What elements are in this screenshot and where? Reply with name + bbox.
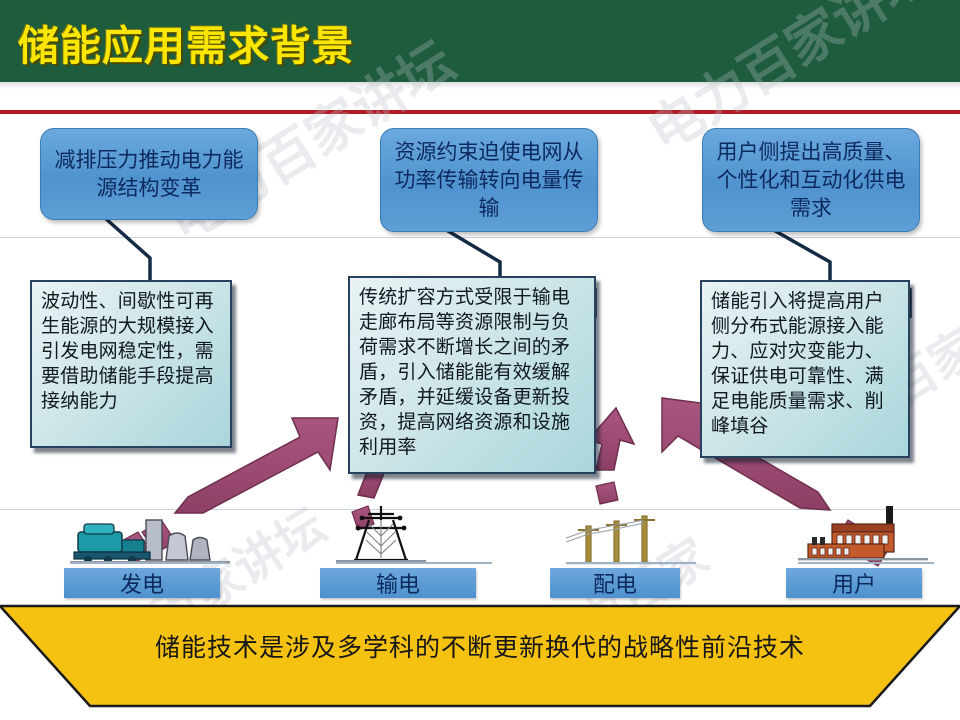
header-shadow — [0, 82, 960, 89]
conclusion-banner-text: 储能技术是涉及多学科的不断更新换代的战略性前沿技术 — [0, 628, 960, 664]
driver-box-user[interactable]: 用户侧提出高质量、个性化和互动化供电需求 — [702, 128, 920, 232]
driver-box-transmission[interactable]: 资源约束迫使电网从功率传输转向电量传输 — [380, 128, 598, 232]
stage-chip-distribution-label: 配电 — [593, 567, 637, 599]
stage-chip-user-label: 用户 — [832, 567, 876, 599]
driver-box-generation-label: 减排压力推动电力能源结构变革 — [49, 146, 249, 202]
stage-chip-transmission[interactable]: 输电 — [320, 568, 476, 598]
driver-box-user-label: 用户侧提出高质量、个性化和互动化供电需求 — [711, 138, 911, 222]
stage-chip-distribution[interactable]: 配电 — [550, 568, 680, 598]
chip-stub — [566, 562, 696, 564]
chip-stub — [336, 562, 492, 564]
detail-box-generation[interactable]: 波动性、间歇性可再生能源的大规模接入引发电网稳定性，需要借助储能手段提高接纳能力 — [30, 280, 232, 448]
chip-stub — [798, 562, 934, 564]
driver-box-transmission-label: 资源约束迫使电网从功率传输转向电量传输 — [389, 138, 589, 222]
detail-box-user-text: 储能引入将提高用户侧分布式能源接入能力、应对灾变能力、保证供电可靠性、满足电能质… — [711, 290, 884, 437]
divider-upper — [0, 237, 960, 238]
chip-stub — [70, 562, 226, 564]
driver-box-generation[interactable]: 减排压力推动电力能源结构变革 — [40, 128, 258, 220]
stage-chip-generation[interactable]: 发电 — [64, 568, 220, 598]
stage-chip-user[interactable]: 用户 — [786, 568, 922, 598]
factory-icon — [798, 504, 928, 566]
detail-box-grid[interactable]: 传统扩容方式受限于输电走廊布局等资源限制与负荷需求不断增长之间的矛盾，引入储能能… — [348, 276, 596, 474]
stage-chip-transmission-label: 输电 — [376, 567, 420, 599]
transmission-tower-icon — [336, 500, 426, 566]
header-red-rule — [0, 110, 960, 114]
slide-root: 储能应用需求背景 电力百家讲坛 电力百家讲坛 电力百家讲坛 电力百家 电力百家 … — [0, 0, 960, 720]
stage-chip-generation-label: 发电 — [120, 567, 164, 599]
distribution-pole-icon — [566, 506, 676, 568]
detail-box-generation-text: 波动性、间歇性可再生能源的大规模接入引发电网稳定性，需要借助储能手段提高接纳能力 — [41, 290, 214, 412]
power-plant-icon — [70, 508, 230, 566]
detail-box-user[interactable]: 储能引入将提高用户侧分布式能源接入能力、应对灾变能力、保证供电可靠性、满足电能质… — [700, 280, 910, 458]
page-title: 储能应用需求背景 — [18, 12, 354, 72]
detail-box-grid-text: 传统扩容方式受限于输电走廊布局等资源限制与负荷需求不断增长之间的矛盾，引入储能能… — [359, 286, 570, 458]
